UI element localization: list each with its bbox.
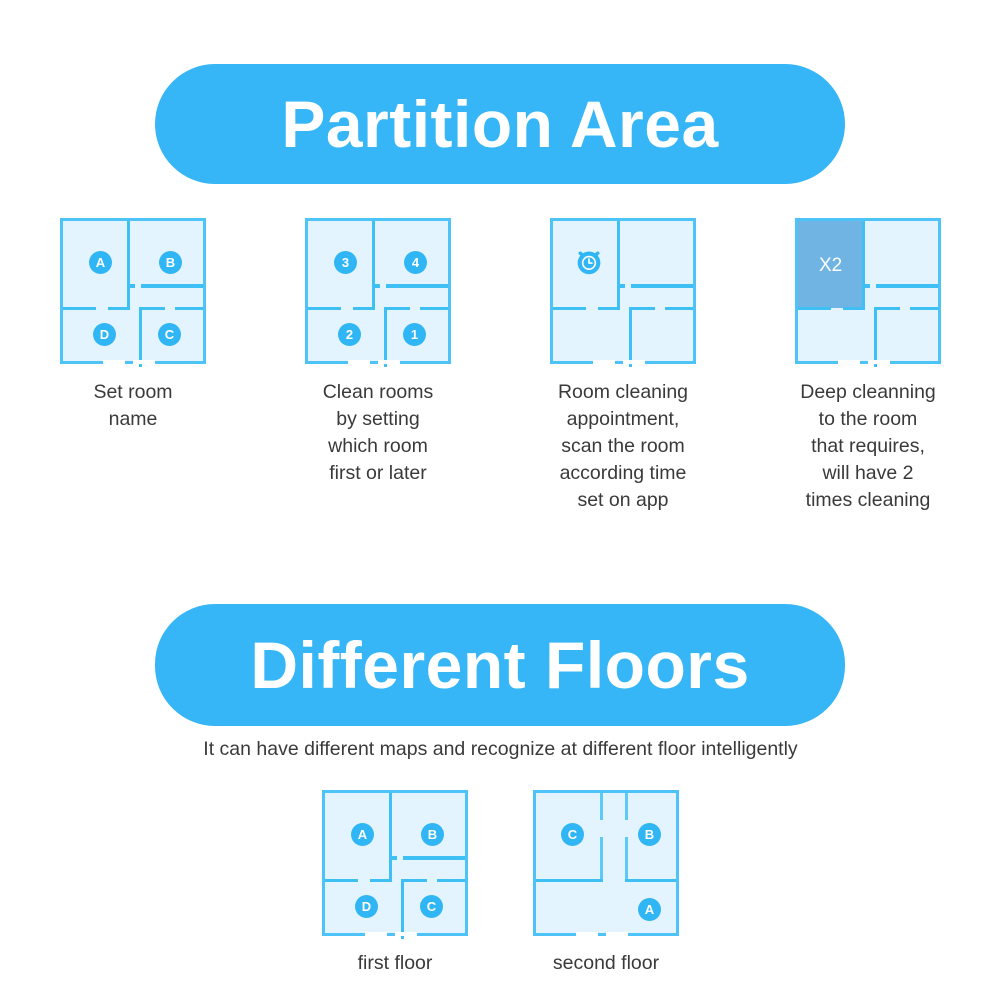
wall-horizontal-above-d-left [63,307,96,310]
different-floors-banner: Different Floors [155,604,845,726]
floor-plan-set-room-name: A B D C [60,218,206,364]
room-badge-b: B [638,823,661,846]
partition-card-row: A B D C Set room name 3 4 2 1 Clean room… [0,218,1001,514]
room-badge-c: C [420,895,443,918]
wall-horizontal-above-c-right [437,879,465,882]
door-gap-bottom-left [348,360,370,364]
wall-horizontal-above-c-left [401,879,427,882]
door-gap-bottom-left [838,360,860,364]
room-badge-1: 1 [403,323,426,346]
different-floors-subtitle: It can have different maps and recognize… [0,738,1001,761]
wall-horizontal-mid-left-a [798,307,831,310]
wall-horizontal-above-c-right [175,307,203,310]
wall-horizontal-above-c-left [139,307,165,310]
room-badge-a: A [351,823,374,846]
caption-clean-order: Clean rooms by setting which room first … [323,379,434,487]
floor-card-first: A B D C first floor [322,790,468,975]
caption-deep-cleaning: Deep cleanning to the room that requires… [800,379,936,514]
door-gap-bottom-left [103,360,125,364]
wall-vertical-upper [389,793,392,881]
wall-horizontal-above-d-right [108,307,130,310]
wall-horizontal-lower-right-a [874,307,900,310]
floor-plan-deep-cleaning: X2 [795,218,941,364]
room-badge-b: B [159,251,182,274]
wall-horizontal-lower-right-a [629,307,655,310]
wall-vertical-upper [127,221,130,309]
wall-stub-under-b [389,856,397,860]
floor-card-second: C B A second floor [533,790,679,975]
caption-set-room-name: Set room name [93,379,172,433]
wall-stub-mid [617,284,625,288]
room-badge-4: 4 [404,251,427,274]
wall-horizontal-above-1-right [420,307,448,310]
deep-clean-x2-label: X2 [819,256,842,275]
door-gap-bottom-left [576,932,598,936]
partition-card-deep-cleaning: X2 Deep cleanning to the room that requi… [788,218,948,514]
door-gap-bottom-right [378,360,400,364]
room-badge-c: C [561,823,584,846]
different-floors-title: Different Floors [250,632,749,698]
wall-horizontal-under-4 [386,284,448,288]
room-badge-3: 3 [334,251,357,274]
partition-card-appointment: Room cleaning appointment, scan the room… [543,218,703,514]
wall-horizontal-above-2-left [308,307,341,310]
wall-horizontal-mid-right [631,284,693,288]
room-badge-a: A [638,898,661,921]
partition-area-title: Partition Area [281,91,718,157]
door-gap-bottom-left [593,360,615,364]
door-gap-bottom-right [623,360,645,364]
wall-horizontal-above-2-right [353,307,375,310]
partition-card-set-room-name: A B D C Set room name [53,218,213,514]
wall-horizontal-above-d-right [370,879,392,882]
room-badge-2: 2 [338,323,361,346]
partition-card-clean-order: 3 4 2 1 Clean rooms by setting which roo… [298,218,458,514]
wall-stub-under-4 [372,284,380,288]
wall-horizontal-mid-left-a [553,307,586,310]
caption-second-floor: second floor [553,952,659,975]
floors-card-row: A B D C first floor C B A second floor [0,790,1001,975]
wall-vertical-upper [372,221,375,309]
wall-horizontal-mid-left-b [598,307,620,310]
wall-horizontal-under-b [403,856,465,860]
room-badge-d: D [355,895,378,918]
wall-vertical-upper [862,221,865,309]
wall-horizontal-under-b [141,284,203,288]
caption-first-floor: first floor [358,952,433,975]
alarm-clock-icon [575,248,603,276]
floor-plan-second-floor: C B A [533,790,679,936]
wall-corridor-left-top [600,793,603,820]
door-gap-bottom-left [365,932,387,936]
wall-horizontal-under-b [625,879,676,882]
partition-area-banner: Partition Area [155,64,845,184]
wall-vertical-upper [617,221,620,309]
wall-vertical-left-of-c [401,879,404,939]
wall-stub-mid [862,284,870,288]
door-gap-bottom-right [133,360,155,364]
wall-vertical-left-of-c [139,307,142,367]
floor-plan-clean-order: 3 4 2 1 [305,218,451,364]
door-gap-bottom-right [868,360,890,364]
wall-horizontal-mid-right [876,284,938,288]
door-gap-bottom-right [395,932,417,936]
room-badge-b: B [421,823,444,846]
wall-horizontal-above-1-left [384,307,410,310]
wall-horizontal-under-c [536,879,603,882]
room-badge-d: D [93,323,116,346]
wall-horizontal-lower-right-b [910,307,938,310]
wall-corridor-left-bottom [600,837,603,882]
room-badge-c: C [158,323,181,346]
wall-corridor-right-bottom [625,837,628,882]
wall-vertical-lower-right [629,307,632,367]
room-badge-a: A [89,251,112,274]
wall-horizontal-mid-left-b [843,307,865,310]
floor-plan-appointment [550,218,696,364]
wall-horizontal-lower-right-b [665,307,693,310]
caption-appointment: Room cleaning appointment, scan the room… [558,379,688,514]
wall-vertical-left-of-1 [384,307,387,367]
wall-stub-under-b [127,284,135,288]
wall-vertical-lower-right [874,307,877,367]
wall-horizontal-above-d-left [325,879,358,882]
door-gap-bottom-right [606,932,628,936]
wall-corridor-right-top [625,793,628,820]
floor-plan-first-floor: A B D C [322,790,468,936]
